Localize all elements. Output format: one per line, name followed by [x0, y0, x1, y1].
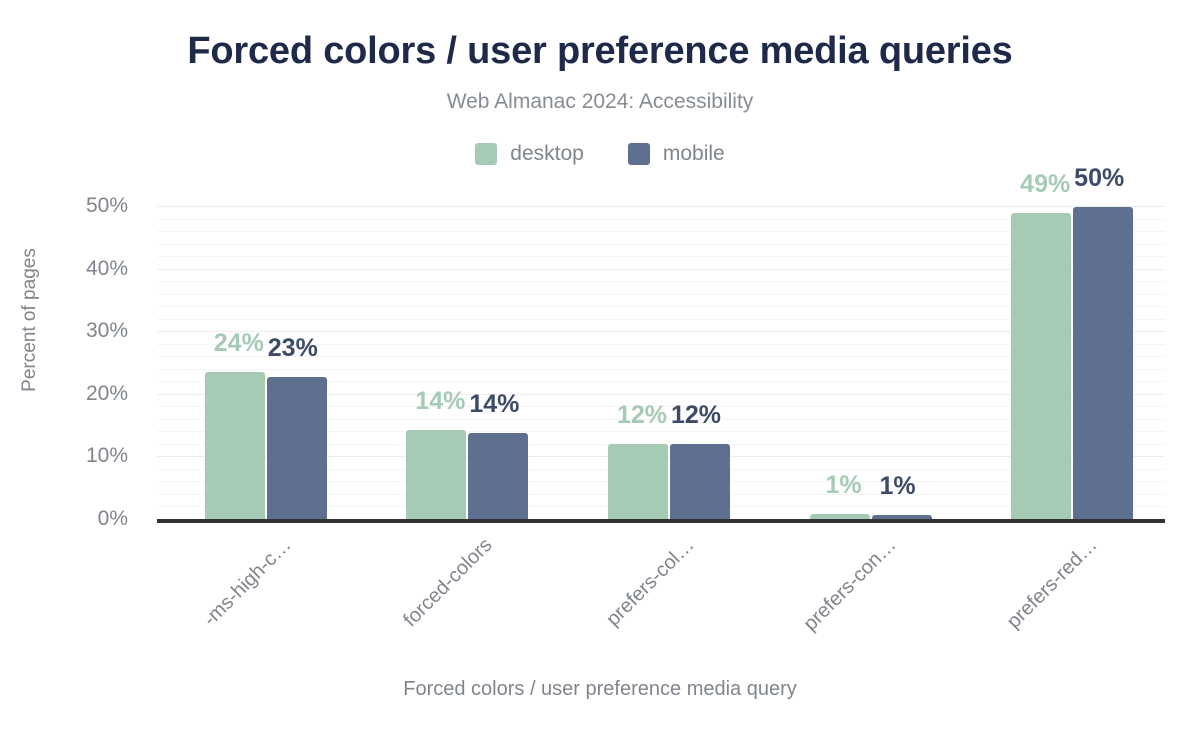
gridline [157, 206, 1165, 207]
value-label-mobile-1: 14% [469, 390, 519, 419]
value-label-desktop-0: 24% [214, 329, 264, 358]
chart-subtitle: Web Almanac 2024: Accessibility [0, 90, 1200, 114]
legend-swatch-desktop [475, 143, 497, 165]
value-label-mobile-2: 12% [671, 401, 721, 430]
x-tick-label-4: prefers-red… [1003, 534, 1103, 634]
plot-area: 24%23%14%14%12%12%1%1%49%50% [157, 206, 1165, 519]
legend-label-desktop: desktop [510, 142, 584, 166]
chart-title: Forced colors / user preference media qu… [0, 30, 1200, 73]
bar-mobile-2[interactable] [670, 444, 730, 519]
bar-desktop-2[interactable] [608, 444, 668, 519]
legend-swatch-mobile [628, 143, 650, 165]
value-label-mobile-3: 1% [880, 472, 916, 501]
x-axis-line [157, 519, 1165, 523]
chart-container: Forced colors / user preference media qu… [0, 0, 1200, 742]
value-label-desktop-3: 1% [826, 471, 862, 500]
bar-mobile-0[interactable] [267, 377, 327, 519]
value-label-mobile-4: 50% [1074, 164, 1124, 193]
bar-mobile-4[interactable] [1073, 207, 1133, 519]
x-tick-label-1: forced-colors [400, 534, 498, 632]
legend-label-mobile: mobile [663, 142, 725, 166]
legend-item-desktop[interactable]: desktop [475, 142, 584, 166]
value-label-desktop-4: 49% [1020, 170, 1070, 199]
bar-desktop-4[interactable] [1011, 213, 1071, 519]
bar-desktop-1[interactable] [406, 430, 466, 519]
x-axis-title: Forced colors / user preference media qu… [0, 678, 1200, 701]
value-label-desktop-2: 12% [617, 401, 667, 430]
y-axis-title: Percent of pages [19, 248, 41, 392]
value-label-desktop-1: 14% [415, 387, 465, 416]
chart-legend: desktopmobile [0, 142, 1200, 166]
value-label-mobile-0: 23% [268, 334, 318, 363]
y-tick-label: 10% [0, 444, 128, 468]
y-tick-label: 0% [0, 507, 128, 531]
x-tick-label-0: -ms-high-c… [199, 534, 296, 631]
y-tick-label: 50% [0, 194, 128, 218]
x-tick-label-3: prefers-con… [799, 534, 901, 636]
x-tick-label-2: prefers-col… [602, 534, 699, 631]
bar-mobile-1[interactable] [468, 433, 528, 519]
legend-item-mobile[interactable]: mobile [628, 142, 725, 166]
bar-desktop-0[interactable] [205, 372, 265, 519]
